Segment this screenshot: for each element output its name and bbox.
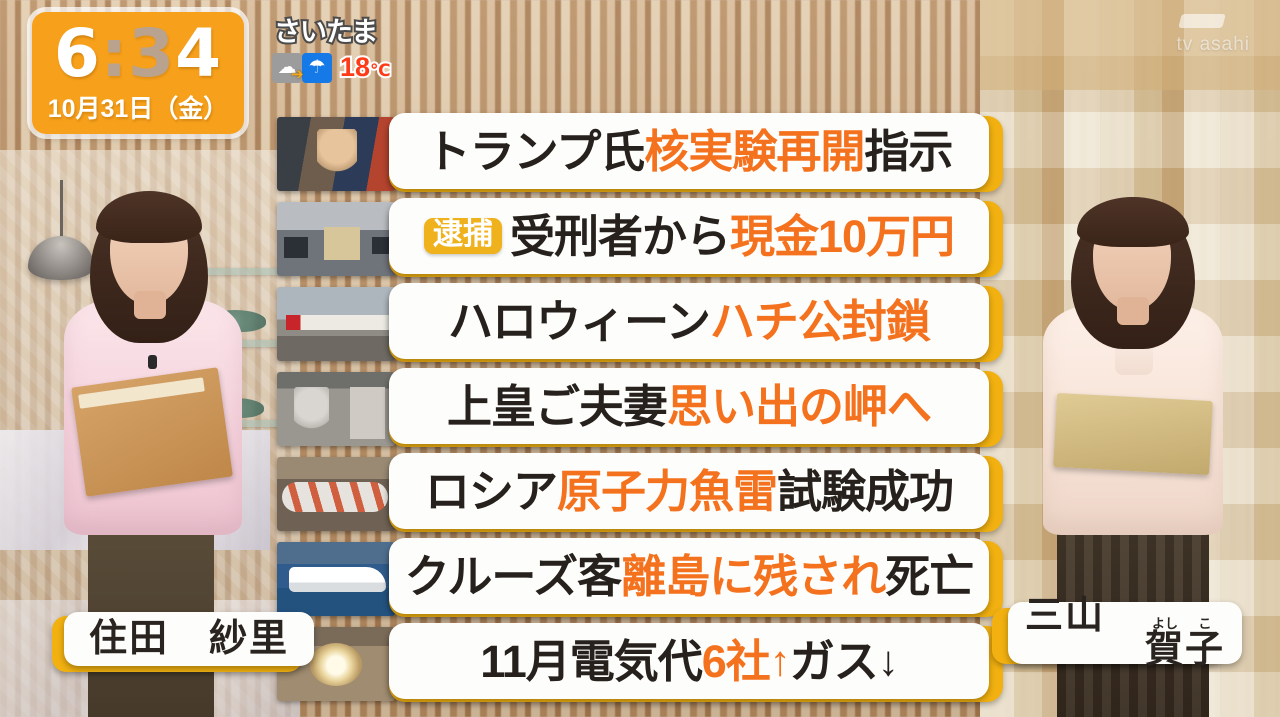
headline-highlight: 原子力魚雷: [557, 469, 777, 514]
headline-highlight: 現金10万円: [730, 214, 954, 259]
presenter-right-fringe: [1077, 197, 1189, 247]
presenter-right-folder: [1053, 393, 1213, 475]
ruby-group: よし賀: [1145, 617, 1185, 669]
channel-name: tv asahi: [1177, 34, 1250, 55]
headline-text: ロシア 原子力魚雷試験成功: [425, 469, 953, 514]
headline-plain: クルーズ客: [405, 554, 621, 599]
headline-row[interactable]: 上皇ご夫妻思い出の岬へ: [277, 368, 997, 451]
clock-separator: :: [101, 23, 128, 86]
headline-plain: 11月電気代: [480, 639, 702, 684]
headline-row[interactable]: 11月電気代 6社↑ ガス↓: [277, 623, 997, 706]
headline-text: 上皇ご夫妻思い出の岬へ: [447, 384, 931, 429]
headline-list: トランプ氏核実験再開指示逮捕受刑者から現金10万円ハロウィーン ハチ公 封鎖上皇…: [277, 113, 997, 708]
broadcast-screen: 6 : 3 4 10月31日（金） さいたま ☁ ☂ ➔ 18℃ トランプ氏核実…: [0, 0, 1280, 717]
headline-bar[interactable]: ハロウィーン ハチ公 封鎖: [389, 283, 989, 359]
headline-text: トランプ氏核実験再開指示: [426, 129, 953, 174]
weather-city: さいたま: [274, 10, 422, 49]
headline-text: クルーズ客 離島に残され死亡: [405, 554, 973, 599]
nameplate-left-card: 住田 紗里: [64, 612, 314, 666]
clock-widget: 6 : 3 4 10月31日（金）: [32, 12, 244, 134]
presenter-right-neck: [1117, 297, 1149, 325]
headline-highlight: ハチ公: [710, 299, 842, 344]
nameplate-right: 三山 よし賀こ子: [992, 602, 1242, 668]
headline-plain: ガス: [790, 639, 878, 684]
headline-highlight: 6社: [702, 639, 770, 684]
weather-temperature: 18℃: [340, 52, 391, 83]
headline-badge: 逮捕: [424, 218, 502, 254]
headline-bar[interactable]: クルーズ客 離島に残され死亡: [389, 538, 989, 614]
headline-plain: 試験成功: [777, 469, 953, 514]
headline-plain: 死亡: [885, 554, 973, 599]
nameplate-right-card: 三山 よし賀こ子: [1008, 602, 1242, 664]
headline-plain: 上皇ご夫妻: [447, 384, 667, 429]
headline-bar[interactable]: 逮捕受刑者から現金10万円: [389, 198, 989, 274]
headline-bar[interactable]: 上皇ご夫妻思い出の岬へ: [389, 368, 989, 444]
channel-watermark: tv asahi: [1177, 34, 1250, 56]
clock-minute-tens: 3: [128, 23, 175, 86]
headline-thumbnail[interactable]: [277, 457, 395, 531]
arrow-up-icon: ↑: [770, 640, 790, 682]
kanji-text: 賀: [1145, 631, 1185, 669]
headline-row[interactable]: クルーズ客 離島に残され死亡: [277, 538, 997, 621]
clock-time: 6 : 3 4: [54, 23, 222, 86]
headline-highlight: 核実験再開: [644, 129, 864, 174]
headline-thumbnail[interactable]: [277, 372, 395, 446]
presenter-left-fringe: [96, 191, 202, 243]
presenter-right-surname: 三山: [1025, 595, 1145, 637]
headline-bar[interactable]: トランプ氏核実験再開指示: [389, 113, 989, 189]
clock-minute-ones: 4: [175, 23, 222, 86]
headline-plain: ハロウィーン: [448, 299, 710, 344]
presenter-left-folder: [71, 367, 233, 497]
headline-highlight: 思い出の岬へ: [667, 384, 931, 429]
headline-plain: 受刑者から: [510, 214, 730, 259]
headline-plain: ロシア: [425, 469, 557, 514]
headline-bar[interactable]: ロシア 原子力魚雷試験成功: [389, 453, 989, 529]
headline-thumbnail[interactable]: [277, 542, 395, 616]
presenter-right-name: 三山 よし賀こ子: [1025, 597, 1225, 669]
ruby-group: こ子: [1185, 617, 1225, 669]
headline-text: ハロウィーン ハチ公 封鎖: [448, 299, 930, 344]
presenter-left-neck: [134, 291, 166, 319]
headline-highlight: 封鎖: [842, 299, 930, 344]
clock-date: 10月31日（金）: [48, 89, 229, 125]
weather-icon-group: ☁ ☂ ➔: [272, 53, 332, 83]
clock-hour: 6: [54, 23, 101, 86]
kanji-text: 子: [1185, 631, 1225, 669]
weather-temp-unit: ℃: [370, 61, 391, 80]
channel-logo-mark: [1178, 14, 1225, 28]
headline-thumbnail[interactable]: [277, 117, 395, 191]
headline-row[interactable]: ハロウィーン ハチ公 封鎖: [277, 283, 997, 366]
headline-plain: 指示: [864, 129, 952, 174]
weather-row: ☁ ☂ ➔ 18℃: [272, 52, 422, 83]
headline-text: 逮捕受刑者から現金10万円: [424, 214, 954, 259]
headline-thumbnail[interactable]: [277, 287, 395, 361]
arrow-down-icon: ↓: [878, 640, 898, 682]
nameplate-left: 住田 紗里: [52, 612, 314, 672]
arrow-right-icon: ➔: [291, 67, 304, 82]
headline-row[interactable]: 逮捕受刑者から現金10万円: [277, 198, 997, 281]
headline-thumbnail[interactable]: [277, 202, 395, 276]
lapel-microphone-icon: [148, 355, 157, 369]
presenter-left-name: 住田 紗里: [89, 620, 289, 658]
headline-plain: トランプ氏: [426, 129, 645, 174]
weather-widget: さいたま ☁ ☂ ➔ 18℃: [272, 10, 422, 106]
headline-text: 11月電気代 6社↑ ガス↓: [480, 639, 898, 684]
weather-temp-value: 18: [340, 52, 370, 82]
headline-row[interactable]: トランプ氏核実験再開指示: [277, 113, 997, 196]
umbrella-rain-icon: ☂: [302, 53, 332, 83]
headline-highlight: 離島に残され: [621, 554, 885, 599]
headline-bar[interactable]: 11月電気代 6社↑ ガス↓: [389, 623, 989, 699]
headline-row[interactable]: ロシア 原子力魚雷試験成功: [277, 453, 997, 536]
